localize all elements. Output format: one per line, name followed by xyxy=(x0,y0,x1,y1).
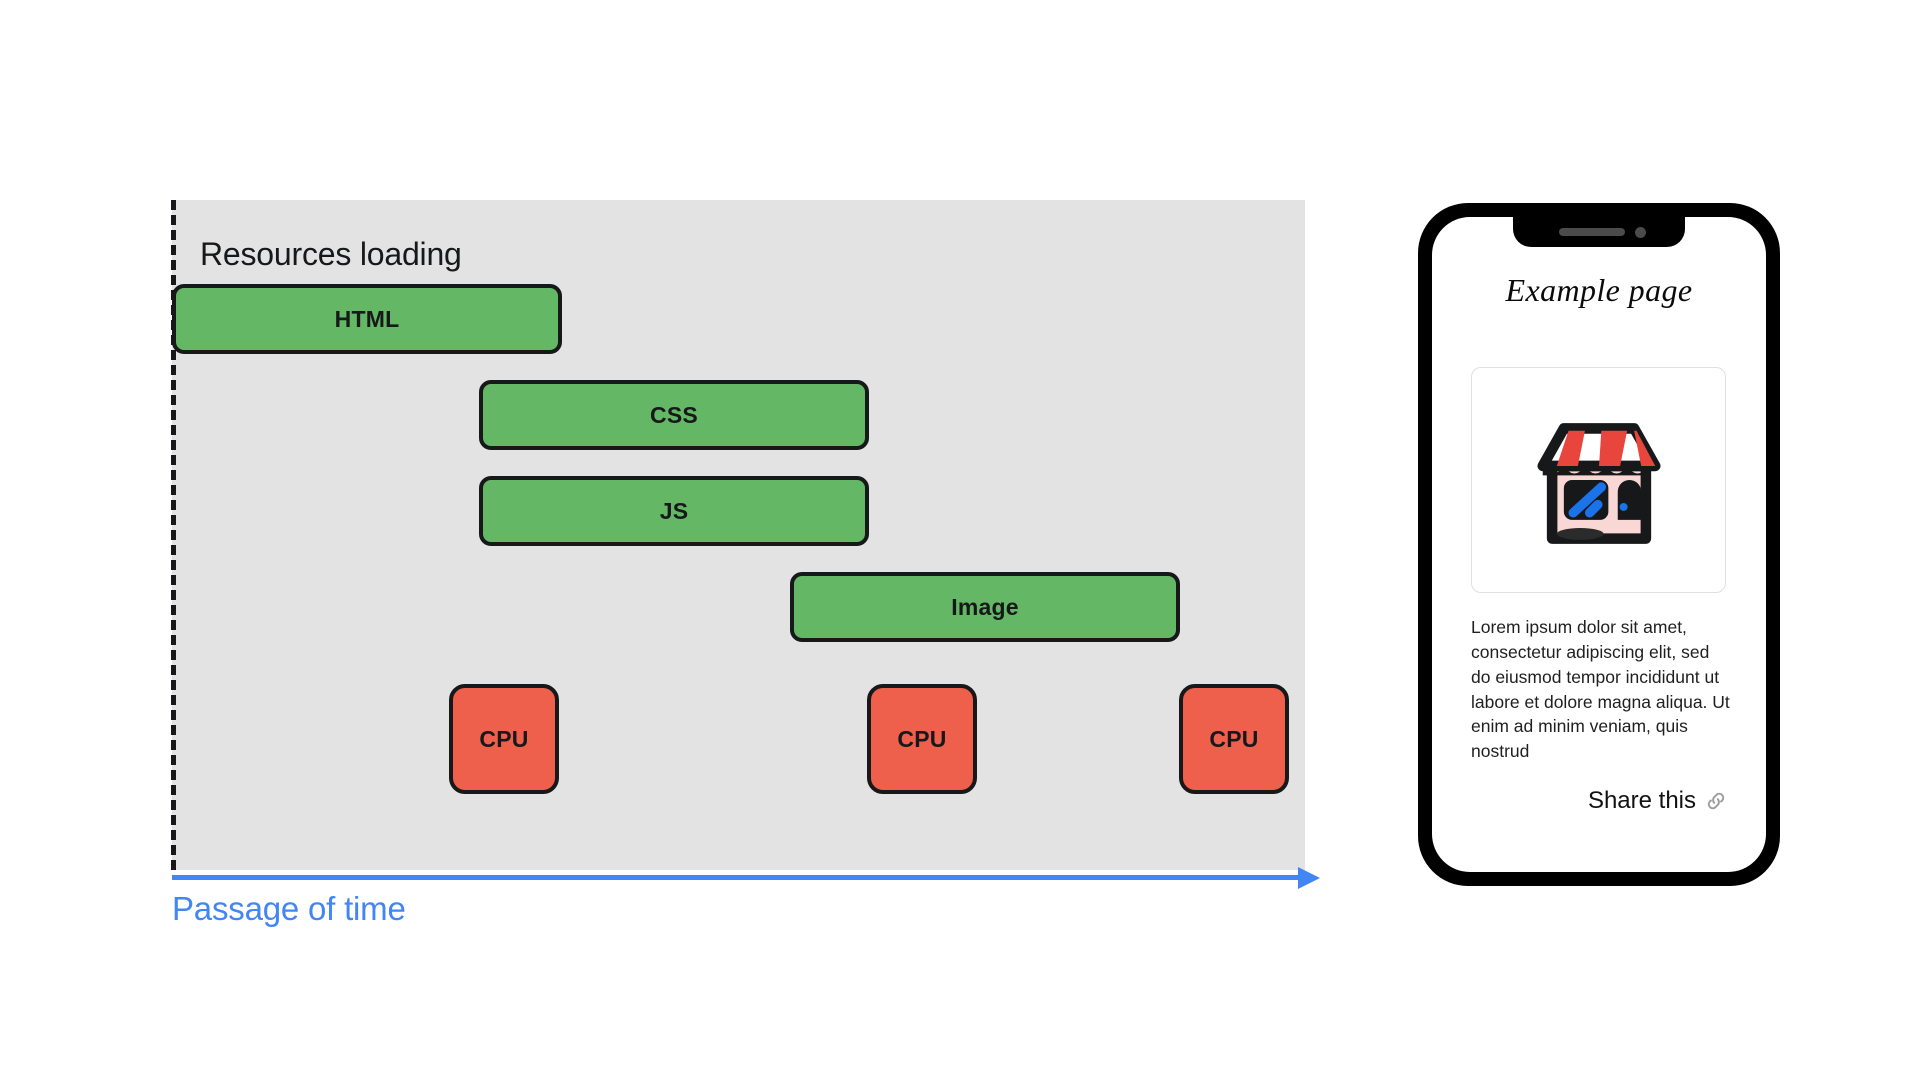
phone-screen: Example page xyxy=(1432,217,1766,872)
cpu-task-box-2[interactable]: CPU xyxy=(867,684,977,794)
image-card xyxy=(1471,367,1726,593)
store-icon xyxy=(1524,405,1674,555)
page-title: Resources loading xyxy=(200,236,462,273)
axis-label-passage-of-time: Passage of time xyxy=(172,890,406,928)
time-axis-arrow xyxy=(172,866,1332,890)
speaker-grill-icon xyxy=(1559,228,1625,236)
resources-loading-diagram: Resources loading HTML CSS JS Image CPU … xyxy=(172,200,1305,870)
arrow-right-icon xyxy=(1298,867,1320,889)
share-this-label: Share this xyxy=(1588,787,1696,815)
front-camera-icon xyxy=(1635,227,1646,238)
example-page-heading: Example page xyxy=(1432,272,1766,309)
share-this-link[interactable]: Share this xyxy=(1588,787,1728,815)
axis-line xyxy=(172,875,1305,880)
chain-icon xyxy=(1704,789,1728,813)
resource-bar-css[interactable]: CSS xyxy=(479,380,869,450)
body-paragraph: Lorem ipsum dolor sit amet, consectetur … xyxy=(1471,615,1733,764)
store-emoji-icon xyxy=(1524,405,1674,555)
diagram-canvas: Resources loading HTML CSS JS Image CPU … xyxy=(0,0,1920,1080)
cpu-task-box-3[interactable]: CPU xyxy=(1179,684,1289,794)
resource-bar-js[interactable]: JS xyxy=(479,476,869,546)
resource-bar-image[interactable]: Image xyxy=(790,572,1180,642)
link-chain-icon xyxy=(1704,789,1728,813)
resource-bar-html[interactable]: HTML xyxy=(172,284,562,354)
phone-mockup: Example page xyxy=(1418,203,1780,886)
cpu-task-box-1[interactable]: CPU xyxy=(449,684,559,794)
phone-notch xyxy=(1513,217,1685,247)
